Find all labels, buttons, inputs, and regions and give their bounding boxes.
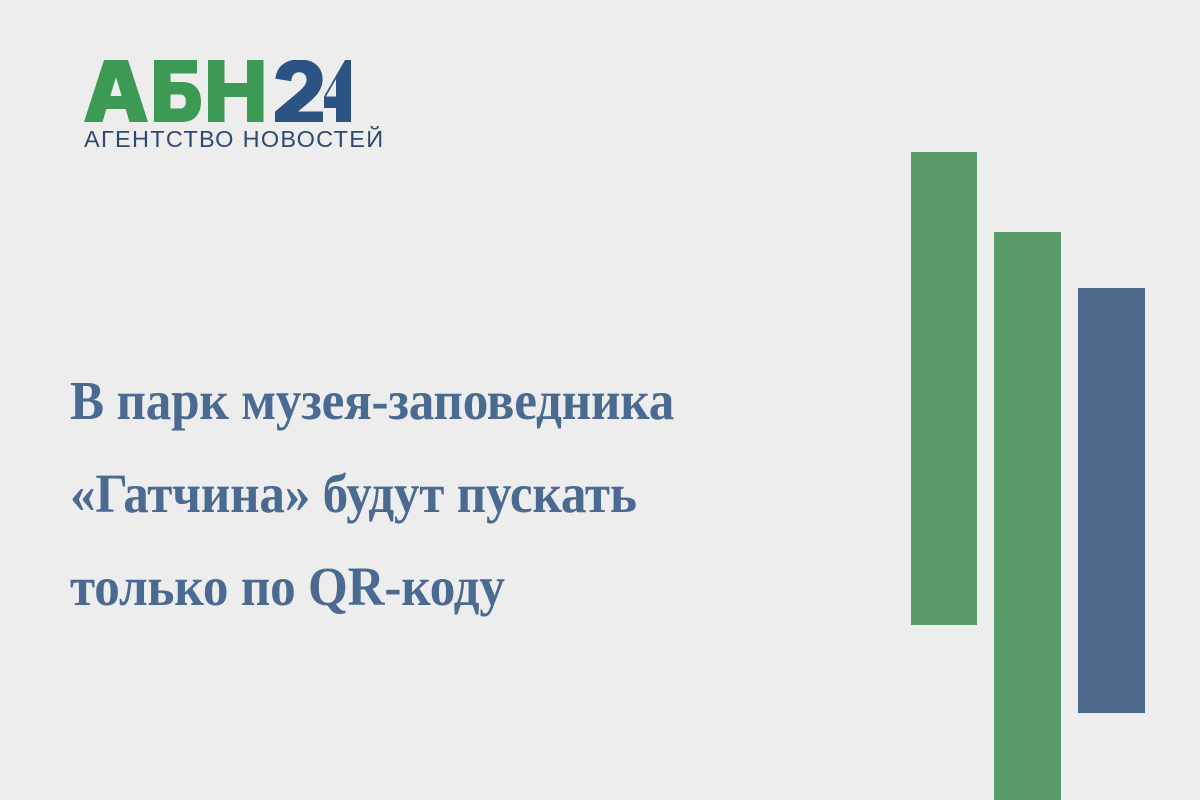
logo-tagline: АГЕНТСТВО НОВОСТЕЙ — [84, 128, 374, 152]
decorative-bar-blue-right — [1078, 288, 1145, 713]
headline-line-2: «Гатчина» будут пускать — [70, 447, 833, 540]
decorative-bar-green-left — [911, 152, 977, 625]
logo-wordmark-icon — [84, 60, 352, 122]
decorative-bar-green-middle — [994, 232, 1061, 800]
news-card: АГЕНТСТВО НОВОСТЕЙ В парк музея-заповедн… — [0, 0, 1200, 800]
headline: В парк музея-заповедника «Гатчина» будут… — [70, 354, 890, 633]
headline-line-3: только по QR-коду — [70, 540, 833, 633]
headline-line-1: В парк музея-заповедника — [70, 354, 833, 447]
logo[interactable]: АГЕНТСТВО НОВОСТЕЙ — [84, 60, 374, 152]
